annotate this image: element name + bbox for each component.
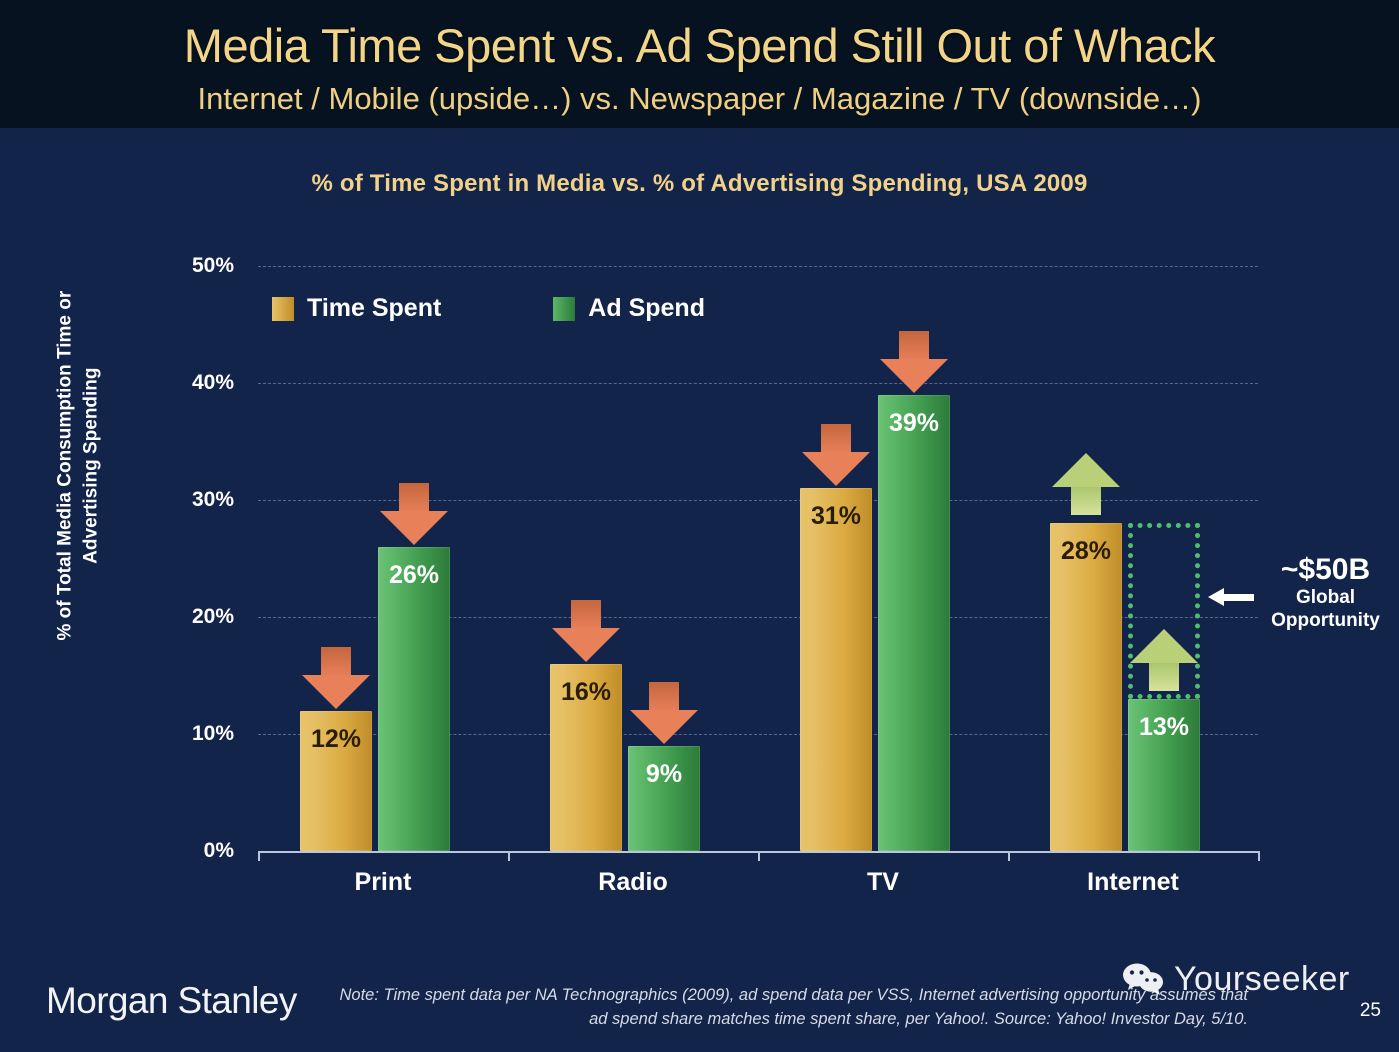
y-axis-tick-label: 40% <box>132 371 252 395</box>
x-axis-tick <box>1258 851 1260 861</box>
bar-tv-time-spent[interactable]: 31% <box>800 488 872 851</box>
bar-value-label: 31% <box>800 502 872 531</box>
x-axis-label-radio: Radio <box>503 868 763 897</box>
down-arrow-icon <box>630 682 698 744</box>
bar-value-label: 39% <box>878 409 950 438</box>
bar-value-label: 16% <box>550 678 622 707</box>
y-axis-tick-label: 30% <box>132 488 252 512</box>
opportunity-line-3: Opportunity <box>1252 610 1399 632</box>
x-axis-tick <box>508 851 510 861</box>
x-axis-tick <box>258 851 260 861</box>
down-arrow-icon <box>552 600 620 662</box>
page-number: 25 <box>1360 1000 1381 1022</box>
bar-print-time-spent[interactable]: 12% <box>300 711 372 851</box>
bar-value-label: 26% <box>378 561 450 590</box>
x-axis-tick <box>1008 851 1010 861</box>
bar-value-label: 28% <box>1050 537 1122 566</box>
bar-print-ad-spend[interactable]: 26% <box>378 547 450 851</box>
x-axis-label-print: Print <box>253 868 513 897</box>
opportunity-annotation: ~$50B Global Opportunity <box>1252 552 1399 632</box>
opportunity-amount: ~$50B <box>1252 552 1399 587</box>
up-arrow-icon <box>1052 453 1120 515</box>
opportunity-gap-box <box>1128 523 1200 699</box>
bar-value-label: 9% <box>628 760 700 789</box>
opportunity-pointer-arrow-icon <box>1208 588 1254 606</box>
y-axis-tick-label: 50% <box>132 254 252 278</box>
chart-plot-area: 0%10%20%30%40%50% 12%26%16%9%31%39%28%13… <box>258 266 1258 851</box>
bar-group-print: 12%26% <box>300 266 450 851</box>
down-arrow-icon <box>880 331 948 393</box>
x-axis-label-internet: Internet <box>1003 868 1263 897</box>
watermark: Yourseeker <box>1122 960 1350 999</box>
bar-radio-ad-spend[interactable]: 9% <box>628 746 700 851</box>
chart-title: % of Time Spent in Media vs. % of Advert… <box>0 170 1399 198</box>
page-title: Media Time Spent vs. Ad Spend Still Out … <box>0 0 1399 69</box>
bar-radio-time-spent[interactable]: 16% <box>550 664 622 851</box>
down-arrow-icon <box>302 647 370 709</box>
morgan-stanley-logo: Morgan Stanley <box>46 980 297 1022</box>
slide-header: Media Time Spent vs. Ad Spend Still Out … <box>0 0 1399 128</box>
opportunity-line-2: Global <box>1252 587 1399 609</box>
bar-group-radio: 16%9% <box>550 266 700 851</box>
down-arrow-icon <box>802 424 870 486</box>
y-axis-tick-label: 0% <box>132 839 252 863</box>
bar-value-label: 12% <box>300 725 372 754</box>
watermark-label: Yourseeker <box>1174 960 1350 999</box>
y-axis-tick-label: 10% <box>132 722 252 746</box>
wechat-icon <box>1122 963 1166 997</box>
bar-value-label: 13% <box>1128 713 1200 742</box>
bar-internet-ad-spend[interactable]: 13% <box>1128 699 1200 851</box>
y-axis-title: % of Total Media Consumption Time or Adv… <box>52 256 103 676</box>
bar-tv-ad-spend[interactable]: 39% <box>878 395 950 851</box>
bar-group-tv: 31%39% <box>800 266 950 851</box>
y-axis-tick-label: 20% <box>132 605 252 629</box>
down-arrow-icon <box>380 483 448 545</box>
x-axis-tick <box>758 851 760 861</box>
page-subtitle: Internet / Mobile (upside…) vs. Newspape… <box>0 69 1399 114</box>
bar-internet-time-spent[interactable]: 28% <box>1050 523 1122 851</box>
footnote-text: Note: Time spent data per NA Technograph… <box>318 984 1248 1032</box>
x-axis-label-tv: TV <box>753 868 1013 897</box>
